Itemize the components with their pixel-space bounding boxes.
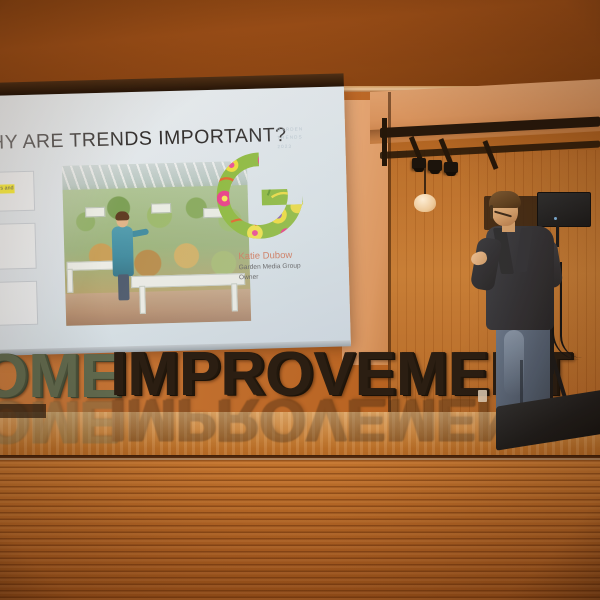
confidence-monitor — [537, 192, 591, 227]
monitor-led-icon — [554, 217, 557, 220]
bench-leg-3 — [139, 286, 146, 314]
credit-role: Owner — [239, 270, 349, 283]
stage-baseboard — [0, 404, 46, 418]
greenhouse-floor — [65, 289, 251, 326]
pendant-light-icon — [414, 194, 436, 212]
slide-text-block-3: t to fill these g consumer ands. — [0, 281, 38, 327]
truss-upright-left — [382, 118, 387, 166]
spotlight-icon-2 — [428, 160, 442, 171]
spotlight-icon-3 — [444, 162, 458, 173]
garden-media-g-logo — [209, 145, 310, 246]
projection-screen: WHY ARE TRENDS IMPORTANT? GARDEN TRENDS … — [0, 86, 351, 358]
woman-legs — [118, 274, 130, 300]
text-line: guage — [0, 254, 33, 264]
slide-text-block-2: ustomers who g the trends" aking their g… — [0, 223, 37, 271]
woman-teal-coat — [112, 226, 134, 277]
stage-photo-scene: WHY ARE TRENDS IMPORTANT? GARDEN TRENDS … — [0, 0, 600, 600]
bench-leg-1 — [67, 269, 74, 293]
text-line: ands. — [0, 303, 34, 313]
headset-band-icon — [490, 205, 493, 219]
plant-sign-1 — [85, 207, 105, 218]
equipment-cable-2 — [560, 262, 582, 358]
bench-leg-4 — [231, 283, 238, 311]
woman-hair — [115, 211, 129, 220]
presenter-hair — [489, 191, 521, 208]
wall-outlet-icon — [478, 390, 487, 402]
screen-surface: WHY ARE TRENDS IMPORTANT? GARDEN TRENDS … — [0, 86, 351, 354]
stage-front-slats — [0, 460, 600, 600]
monitor-stand — [556, 225, 559, 247]
block-letters-green: OME — [0, 346, 121, 408]
pendant-rod — [424, 168, 426, 196]
text-line: umers and — [0, 184, 15, 193]
slide-speaker-credit: Katie Dubow Garden Media Group Owner — [238, 248, 349, 283]
stage-block-letters: OME IMPROVEMENT — [0, 344, 480, 416]
plant-sign-2 — [151, 203, 171, 214]
slide-text-block-1: nds drive umers and rs drive sales. — [0, 171, 35, 213]
